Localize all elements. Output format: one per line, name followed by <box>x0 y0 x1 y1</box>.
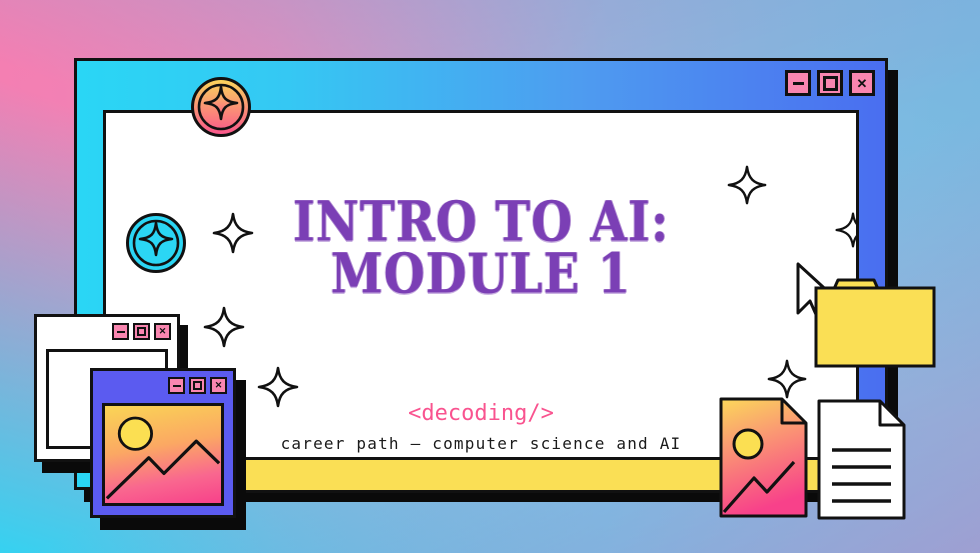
text-document-icon[interactable] <box>816 398 907 521</box>
back-window-close-button[interactable]: ✕ <box>154 323 171 340</box>
front-window-image-preview <box>102 403 224 506</box>
front-window-controls: ✕ <box>168 377 227 394</box>
poster-canvas: ✕ <box>0 0 980 553</box>
main-window-controls: ✕ <box>785 70 875 96</box>
sparkle-center-right-icon <box>766 358 808 400</box>
folder-icon[interactable] <box>812 275 938 370</box>
front-window: ✕ <box>90 368 236 518</box>
close-icon: ✕ <box>159 327 167 336</box>
sparkle-orb-orange-icon <box>190 76 252 138</box>
minimize-icon <box>793 82 804 85</box>
title-line-two: MODULE 1 <box>106 249 856 300</box>
close-icon: ✕ <box>215 381 223 390</box>
close-button[interactable]: ✕ <box>849 70 875 96</box>
maximize-icon <box>193 381 202 390</box>
minimize-button[interactable] <box>785 70 811 96</box>
back-window-minimize-button[interactable] <box>112 323 129 340</box>
close-icon: ✕ <box>857 77 868 90</box>
back-window-maximize-button[interactable] <box>133 323 150 340</box>
front-window-minimize-button[interactable] <box>168 377 185 394</box>
title-line-one: INTRO TO AI: <box>106 197 856 248</box>
poster-title: INTRO TO AI: MODULE 1 <box>106 197 856 292</box>
sparkle-orb-cyan-icon <box>125 212 187 274</box>
image-placeholder-graphic <box>105 406 221 503</box>
front-window-close-button[interactable]: ✕ <box>210 377 227 394</box>
image-file-icon[interactable] <box>718 396 809 519</box>
sparkle-bottom-left-icon <box>202 305 246 349</box>
back-window-controls: ✕ <box>112 323 171 340</box>
minimize-icon <box>117 331 125 333</box>
minimize-icon <box>173 385 181 387</box>
maximize-icon <box>137 327 146 336</box>
maximize-button[interactable] <box>817 70 843 96</box>
front-window-maximize-button[interactable] <box>189 377 206 394</box>
maximize-icon <box>823 76 838 91</box>
